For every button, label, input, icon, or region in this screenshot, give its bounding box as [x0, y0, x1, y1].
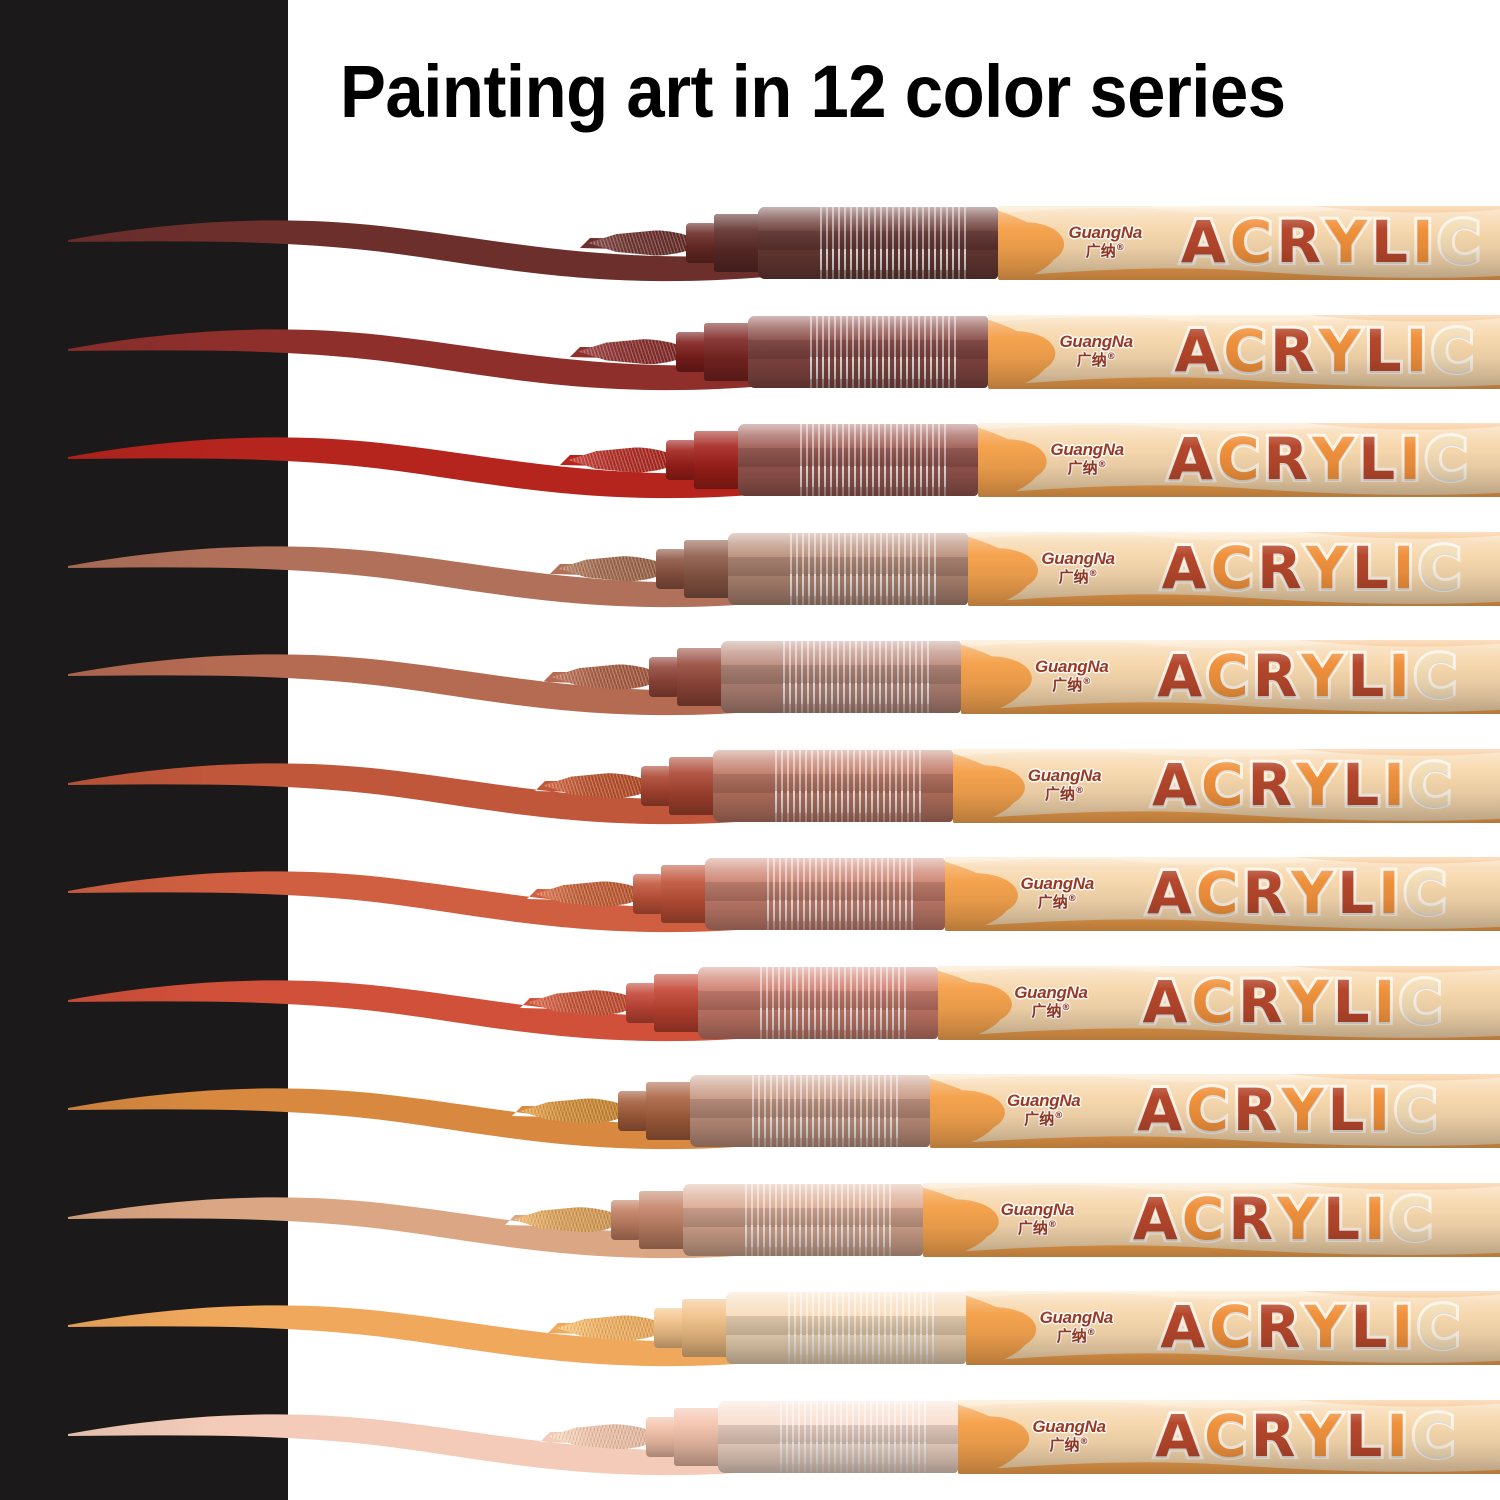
brush-ferrule [654, 1308, 684, 1348]
registered-trademark-icon: ® [1048, 1220, 1057, 1230]
wordmark-letter: I [1374, 973, 1400, 1031]
brush-tip [588, 230, 696, 256]
wordmark-letter: R [1257, 539, 1306, 597]
product-wordmark: ACRYLIC [1174, 322, 1477, 380]
registered-trademark-icon: ® [1061, 1003, 1070, 1013]
wordmark-letter: L [1323, 1190, 1364, 1248]
brand-name: GuangNa [1010, 1418, 1128, 1435]
wordmark-letter: I [1383, 756, 1409, 814]
brand-name-chinese: 广纳® [985, 1112, 1103, 1127]
wordmark-letter: C [1217, 430, 1264, 488]
wordmark-letter: I [1368, 1081, 1394, 1139]
pen-cap-label: GuangNa广纳®ACRYLIC [958, 1400, 1500, 1474]
product-wordmark: ACRYLIC [1157, 647, 1460, 705]
wordmark-letter: C [1431, 322, 1478, 380]
brand-lockup: GuangNa广纳® [1017, 1309, 1135, 1344]
brand-name-chinese: 广纳® [998, 895, 1116, 910]
wordmark-letter: I [1412, 213, 1438, 271]
brush-ferrule [626, 983, 656, 1023]
wordmark-letter: A [1157, 647, 1206, 705]
brand-name: GuangNa [978, 1201, 1096, 1218]
brush-ferrule [633, 874, 663, 914]
paint-marker-pen: GuangNa广纳®ACRYLIC [0, 1382, 1500, 1500]
wordmark-letter: Y [1325, 213, 1371, 271]
brush-tip [528, 990, 636, 1016]
wordmark-letter: C [1438, 213, 1485, 271]
wordmark-letter: C [1206, 647, 1253, 705]
pen-cap-label: GuangNa广纳®ACRYLIC [930, 1074, 1500, 1148]
product-image-canvas: Painting art in 12 color series [0, 0, 1500, 1500]
brand-name: GuangNa [985, 1092, 1103, 1109]
wordmark-letter: A [1152, 756, 1201, 814]
wordmark-letter: I [1392, 1298, 1418, 1356]
brand-name-chinese: 广纳® [1019, 570, 1137, 585]
product-wordmark: ACRYLIC [1168, 430, 1471, 488]
brush-tip [548, 1424, 656, 1450]
registered-trademark-icon: ® [1116, 243, 1125, 253]
wordmark-letter: Y [1319, 322, 1365, 380]
pen-cap-label: GuangNa广纳®ACRYLIC [966, 1291, 1500, 1365]
registered-trademark-icon: ® [1082, 677, 1091, 687]
pen-barrel [705, 858, 945, 930]
wordmark-letter: Y [1282, 1081, 1328, 1139]
brush-tip [551, 664, 659, 690]
wordmark-letter: R [1270, 322, 1319, 380]
brand-name: GuangNa [1028, 441, 1146, 458]
wordmark-letter: L [1351, 1298, 1392, 1356]
wordmark-letter: C [1414, 647, 1461, 705]
pen-nose-collar [684, 540, 732, 598]
brand-name: GuangNa [998, 875, 1116, 892]
brush-tip [556, 1315, 664, 1341]
pen-cap-label: GuangNa广纳®ACRYLIC [961, 640, 1500, 714]
pen-barrel [713, 750, 953, 822]
pen-barrel [726, 1292, 966, 1364]
brand-name-chinese: 广纳® [1010, 1438, 1128, 1453]
wordmark-letter: R [1276, 213, 1325, 271]
wordmark-letter: A [1181, 213, 1230, 271]
wordmark-letter: I [1406, 322, 1432, 380]
registered-trademark-icon: ® [1087, 1328, 1096, 1338]
pen-cap-label: GuangNa广纳®ACRYLIC [953, 749, 1500, 823]
wordmark-letter: C [1186, 1081, 1233, 1139]
product-wordmark: ACRYLIC [1133, 1190, 1436, 1248]
wordmark-letter: L [1333, 973, 1374, 1031]
wordmark-letter: C [1399, 973, 1446, 1031]
pen-nose-collar [639, 1191, 687, 1249]
wordmark-letter: C [1417, 1298, 1464, 1356]
wordmark-letter: R [1228, 1190, 1277, 1248]
product-wordmark: ACRYLIC [1147, 864, 1450, 922]
brush-tip [558, 556, 666, 582]
wordmark-letter: I [1378, 864, 1404, 922]
brand-name-chinese: 广纳® [978, 1221, 1096, 1236]
wordmark-letter: A [1137, 1081, 1186, 1139]
brand-lockup: GuangNa广纳® [985, 1092, 1103, 1127]
wordmark-letter: R [1253, 647, 1302, 705]
wordmark-letter: R [1233, 1081, 1282, 1139]
brush-tip [513, 1207, 621, 1233]
wordmark-letter: R [1251, 1407, 1300, 1465]
brand-name: GuangNa [1037, 333, 1155, 350]
brand-name: GuangNa [1019, 550, 1137, 567]
wordmark-letter: A [1160, 1298, 1209, 1356]
pen-cap-label: GuangNa广纳®ACRYLIC [945, 857, 1500, 931]
wordmark-letter: Y [1277, 1190, 1323, 1248]
pen-nose-collar [669, 757, 717, 815]
brand-name-chinese: 广纳® [1017, 1329, 1135, 1344]
brand-lockup: GuangNa广纳® [998, 875, 1116, 910]
wordmark-letter: C [1201, 756, 1248, 814]
wordmark-letter: C [1412, 1407, 1459, 1465]
wordmark-letter: A [1142, 973, 1191, 1031]
wordmark-letter: C [1211, 539, 1258, 597]
wordmark-letter: R [1256, 1298, 1305, 1356]
brand-name-chinese: 广纳® [1037, 353, 1155, 368]
wordmark-letter: L [1328, 1081, 1369, 1139]
pen-cap-label: GuangNa广纳®ACRYLIC [988, 315, 1500, 389]
product-wordmark: ACRYLIC [1137, 1081, 1440, 1139]
pen-barrel [738, 424, 978, 496]
wordmark-letter: C [1390, 1190, 1437, 1248]
registered-trademark-icon: ® [1054, 1111, 1063, 1121]
wordmark-letter: I [1399, 430, 1425, 488]
brush-ferrule [611, 1200, 641, 1240]
pen-barrel [690, 1075, 930, 1147]
wordmark-letter: L [1358, 430, 1399, 488]
pen-cap-label: GuangNa广纳®ACRYLIC [968, 532, 1500, 606]
brand-name: GuangNa [1046, 224, 1164, 241]
wordmark-letter: Y [1299, 1407, 1345, 1465]
product-wordmark: ACRYLIC [1142, 973, 1445, 1031]
brush-tip [535, 881, 643, 907]
wordmark-letter: I [1386, 1407, 1412, 1465]
brand-lockup: GuangNa广纳® [1006, 767, 1124, 802]
pen-nose-collar [646, 1082, 694, 1140]
page-title: Painting art in 12 color series [340, 48, 1391, 138]
pen-barrel [748, 316, 988, 388]
product-wordmark: ACRYLIC [1152, 756, 1455, 814]
brand-name: GuangNa [992, 984, 1110, 1001]
wordmark-letter: L [1347, 647, 1388, 705]
brand-name: GuangNa [1013, 658, 1131, 675]
wordmark-letter: C [1223, 322, 1270, 380]
wordmark-letter: A [1162, 539, 1211, 597]
wordmark-letter: A [1168, 430, 1217, 488]
pen-cap-label: GuangNa广纳®ACRYLIC [998, 206, 1500, 280]
brand-name: GuangNa [1017, 1309, 1135, 1326]
wordmark-letter: C [1394, 1081, 1441, 1139]
wordmark-letter: C [1196, 864, 1243, 922]
wordmark-letter: C [1204, 1407, 1251, 1465]
brand-name-chinese: 广纳® [1006, 787, 1124, 802]
brand-lockup: GuangNa广纳® [1028, 441, 1146, 476]
wordmark-letter: L [1342, 756, 1383, 814]
wordmark-letter: I [1388, 647, 1414, 705]
brush-tip [520, 1098, 628, 1124]
wordmark-letter: L [1345, 1407, 1386, 1465]
brush-ferrule [649, 657, 679, 697]
wordmark-letter: Y [1296, 756, 1342, 814]
pen-barrel [758, 207, 998, 279]
wordmark-letter: A [1133, 1190, 1182, 1248]
wordmark-letter: R [1248, 756, 1297, 814]
pen-nose-collar [674, 1408, 722, 1466]
pen-barrel [683, 1184, 923, 1256]
brand-lockup: GuangNa广纳® [992, 984, 1110, 1019]
brush-tip [578, 339, 686, 365]
brush-tip [568, 447, 676, 473]
pen-barrel [698, 967, 938, 1039]
brand-name-chinese: 广纳® [1013, 678, 1131, 693]
pen-cap-label: GuangNa广纳®ACRYLIC [978, 423, 1500, 497]
wordmark-letter: Y [1306, 539, 1352, 597]
wordmark-letter: I [1393, 539, 1419, 597]
wordmark-letter: C [1425, 430, 1472, 488]
brush-ferrule [646, 1417, 676, 1457]
registered-trademark-icon: ® [1098, 460, 1107, 470]
wordmark-letter: R [1264, 430, 1313, 488]
brand-lockup: GuangNa广纳® [978, 1201, 1096, 1236]
brand-lockup: GuangNa广纳® [1037, 333, 1155, 368]
pen-nose-collar [682, 1299, 730, 1357]
brand-name-chinese: 广纳® [992, 1004, 1110, 1019]
brand-name: GuangNa [1006, 767, 1124, 784]
wordmark-letter: Y [1287, 973, 1333, 1031]
pen-nose-collar [694, 431, 742, 489]
wordmark-letter: C [1230, 213, 1277, 271]
pen-barrel [718, 1401, 958, 1473]
wordmark-letter: R [1242, 864, 1291, 922]
wordmark-letter: R [1238, 973, 1287, 1031]
wordmark-letter: L [1337, 864, 1378, 922]
pen-nose-collar [677, 648, 725, 706]
pen-nose-collar [704, 323, 752, 381]
wordmark-letter: Y [1291, 864, 1337, 922]
registered-trademark-icon: ® [1075, 786, 1084, 796]
wordmark-letter: I [1364, 1190, 1390, 1248]
wordmark-letter: A [1155, 1407, 1204, 1465]
registered-trademark-icon: ® [1080, 1437, 1089, 1447]
brush-ferrule [656, 549, 686, 589]
wordmark-letter: A [1147, 864, 1196, 922]
wordmark-letter: Y [1305, 1298, 1351, 1356]
wordmark-letter: L [1352, 539, 1393, 597]
wordmark-letter: C [1182, 1190, 1229, 1248]
wordmark-letter: C [1418, 539, 1465, 597]
wordmark-letter: Y [1312, 430, 1358, 488]
pen-cap-label: GuangNa广纳®ACRYLIC [923, 1183, 1500, 1257]
registered-trademark-icon: ® [1107, 352, 1116, 362]
brush-ferrule [666, 440, 696, 480]
brand-lockup: GuangNa广纳® [1010, 1418, 1128, 1453]
wordmark-letter: Y [1301, 647, 1347, 705]
brush-ferrule [676, 332, 706, 372]
brand-lockup: GuangNa广纳® [1046, 224, 1164, 259]
product-wordmark: ACRYLIC [1155, 1407, 1458, 1465]
pen-row: GuangNa广纳®ACRYLIC [0, 1382, 1500, 1500]
registered-trademark-icon: ® [1068, 894, 1077, 904]
brand-name-chinese: 广纳® [1028, 461, 1146, 476]
wordmark-letter: L [1371, 213, 1412, 271]
wordmark-letter: C [1409, 756, 1456, 814]
brand-lockup: GuangNa广纳® [1013, 658, 1131, 693]
wordmark-letter: C [1209, 1298, 1256, 1356]
wordmark-letter: C [1191, 973, 1238, 1031]
product-wordmark: ACRYLIC [1162, 539, 1465, 597]
brand-lockup: GuangNa广纳® [1019, 550, 1137, 585]
product-wordmark: ACRYLIC [1160, 1298, 1463, 1356]
brush-ferrule [618, 1091, 648, 1131]
wordmark-letter: L [1365, 322, 1406, 380]
pen-barrel [728, 533, 968, 605]
brand-name-chinese: 广纳® [1046, 244, 1164, 259]
brush-tip [543, 773, 651, 799]
pen-cap-label: GuangNa广纳®ACRYLIC [938, 966, 1500, 1040]
product-wordmark: ACRYLIC [1181, 213, 1484, 271]
pen-nose-collar [661, 865, 709, 923]
brush-ferrule [686, 223, 716, 263]
pen-barrel [721, 641, 961, 713]
pen-nose-collar [654, 974, 702, 1032]
pen-nose-collar [714, 214, 762, 272]
registered-trademark-icon: ® [1089, 569, 1098, 579]
wordmark-letter: A [1174, 322, 1223, 380]
wordmark-letter: C [1404, 864, 1451, 922]
brush-ferrule [641, 766, 671, 806]
